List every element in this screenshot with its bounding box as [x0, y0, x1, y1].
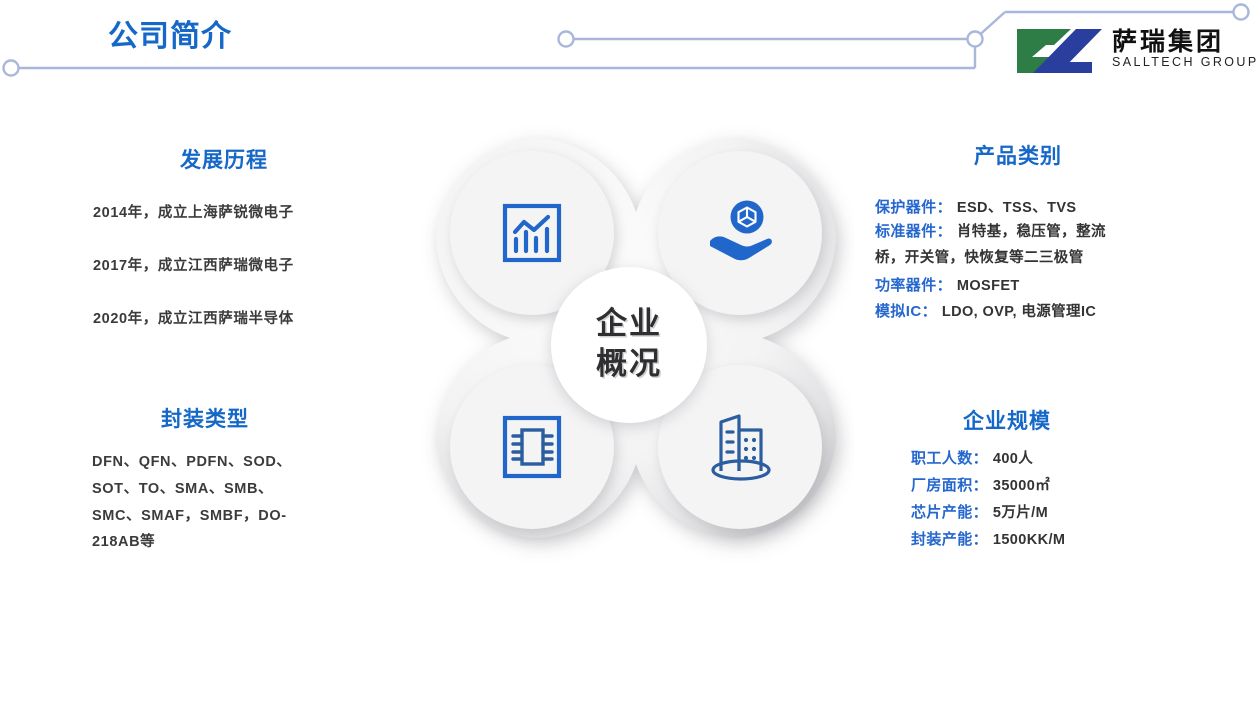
scale-item-3-value: 5万片/M: [993, 505, 1048, 521]
salltech-logo-icon: [1014, 23, 1106, 79]
center-title-line-1: 企业: [596, 305, 662, 345]
scale-item-1-value: 400人: [993, 451, 1033, 467]
scale-item-3: 芯片产能： 5万片/M: [911, 501, 1048, 522]
page-title: 公司简介: [108, 11, 232, 55]
product-item-1-value: ESD、TSS、TVS: [957, 200, 1077, 216]
deco-node-joint: [968, 32, 983, 47]
packaging-line-3: SMC、SMAF，SMBF，DO-: [92, 504, 287, 525]
packaging-line-1: DFN、QFN、PDFN、SOD、: [92, 450, 292, 471]
product-item-4-label: 模拟IC：: [875, 303, 937, 320]
product-item-3-value: MOSFET: [957, 278, 1020, 294]
slide-canvas: 公司简介 萨瑞集团 SALLTECH GROUP 发展历程 2014年，成立上海…: [0, 0, 1256, 704]
chip-icon: [492, 407, 572, 487]
product-item-2-continuation: 桥，开关管，快恢复等二三极管: [875, 246, 1084, 267]
scale-item-1: 职工人数： 400人: [911, 447, 1033, 468]
packaging-line-2: SOT、TO、SMA、SMB、: [92, 477, 273, 498]
section-heading-scale: 企业规模: [963, 405, 1051, 435]
center-title-line-2: 概况: [596, 345, 662, 385]
history-line-2: 2017年，成立江西萨瑞微电子: [93, 254, 294, 275]
product-item-1-label: 保护器件：: [875, 199, 952, 216]
hand-holding-box-icon: [700, 193, 780, 273]
enterprise-overview-diagram: 企业 概况: [404, 120, 854, 570]
logo-name-cn: 萨瑞集团: [1112, 22, 1224, 58]
buildings-icon: [698, 405, 784, 491]
section-heading-history: 发展历程: [180, 144, 268, 174]
bar-chart-icon: [492, 193, 572, 273]
product-item-4-value: LDO, OVP, 电源管理IC: [942, 304, 1096, 320]
scale-item-4-value: 1500KK/M: [993, 532, 1066, 548]
deco-node-right: [1234, 5, 1249, 20]
scale-item-3-label: 芯片产能：: [911, 504, 988, 521]
product-item-1: 保护器件： ESD、TSS、TVS: [875, 196, 1077, 217]
product-item-4: 模拟IC： LDO, OVP, 电源管理IC: [875, 300, 1096, 321]
scale-item-2: 厂房面积： 35000㎡: [911, 474, 1050, 495]
deco-node-mid: [559, 32, 574, 47]
scale-item-2-value: 35000㎡: [993, 478, 1050, 494]
product-item-3: 功率器件： MOSFET: [875, 274, 1020, 295]
product-item-2-value: 肖特基，稳压管，整流: [957, 224, 1106, 240]
section-heading-products: 产品类别: [974, 140, 1062, 170]
center-label-circle: 企业 概况: [551, 267, 707, 423]
scale-item-1-label: 职工人数：: [911, 450, 988, 467]
product-item-2-label: 标准器件：: [875, 223, 952, 240]
brand-logo: 萨瑞集团 SALLTECH GROUP: [1014, 22, 1246, 80]
scale-item-4-label: 封装产能：: [911, 531, 988, 548]
scale-item-2-label: 厂房面积：: [911, 477, 988, 494]
product-item-3-label: 功率器件：: [875, 277, 952, 294]
scale-item-4: 封装产能： 1500KK/M: [911, 528, 1065, 549]
packaging-line-4: 218AB等: [92, 530, 155, 551]
history-line-3: 2020年，成立江西萨瑞半导体: [93, 307, 294, 328]
history-line-1: 2014年，成立上海萨锐微电子: [93, 201, 294, 222]
section-heading-packaging: 封装类型: [161, 403, 249, 433]
deco-node-left: [4, 61, 19, 76]
logo-name-en: SALLTECH GROUP: [1112, 55, 1256, 69]
product-item-2: 标准器件： 肖特基，稳压管，整流: [875, 220, 1106, 241]
